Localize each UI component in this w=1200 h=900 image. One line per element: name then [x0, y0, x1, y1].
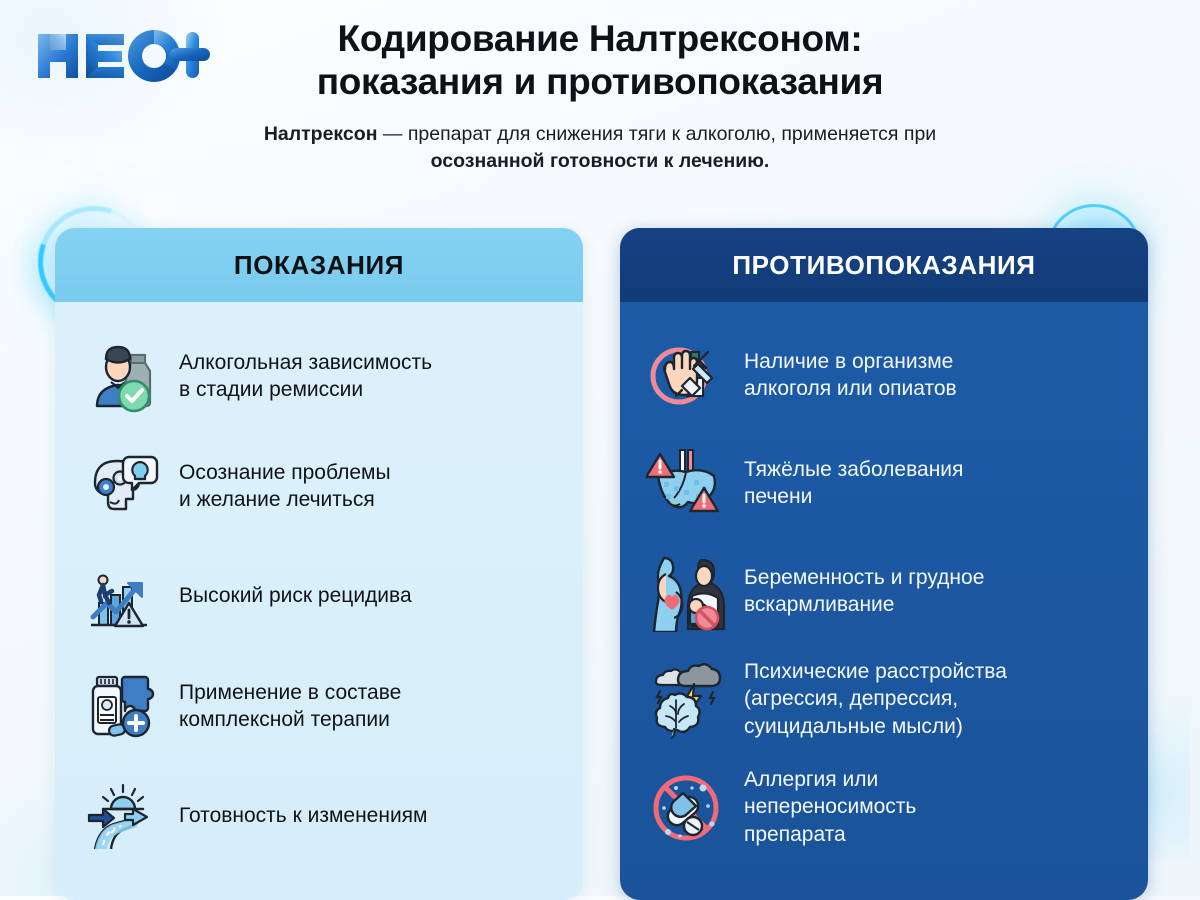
list-item-line: суицидальные мысли)	[744, 713, 1007, 740]
list-item[interactable]: Наличие в организме алкоголя или опиатов	[646, 324, 1118, 426]
list-item-text: Психические расстройства (агрессия, депр…	[744, 658, 1007, 740]
person-bottle-check-icon	[81, 335, 163, 417]
list-item-line: в стадии ремиссии	[179, 376, 432, 403]
no-pills-allergy-icon	[646, 766, 728, 848]
list-item-line: и желание лечиться	[179, 486, 391, 513]
list-item-line: Тяжёлые заболевания	[744, 456, 963, 483]
list-item-line: вскармливание	[744, 591, 984, 618]
list-item-text: Аллергия или непереносимость препарата	[744, 766, 916, 848]
subtitle-bold-drug-name: Налтрексон	[264, 123, 378, 145]
list-item-line: Беременность и грудное	[744, 564, 984, 591]
list-item-line: Психические расстройства	[744, 658, 1007, 685]
brain-storm-cloud-icon	[646, 658, 728, 740]
list-item[interactable]: Применение в составе комплексной терапии	[81, 654, 553, 758]
page-subtitle: Налтрексон — препарат для снижения тяги …	[250, 121, 950, 175]
card-contraindications-title: ПРОТИВОПОКАЗАНИЯ	[732, 250, 1035, 281]
list-item-text: Тяжёлые заболевания печени	[744, 456, 963, 511]
page-title: Кодирование Налтрексоном: показания и пр…	[220, 18, 980, 104]
list-item-line: комплексной терапии	[179, 706, 401, 733]
card-contraindications: ПРОТИВОПОКАЗАНИЯ	[620, 228, 1148, 900]
list-item-line: Осознание проблемы	[179, 459, 391, 486]
list-item-line: Готовность к изменениям	[179, 802, 427, 829]
list-item[interactable]: Высокий риск рецидива	[81, 544, 553, 648]
sunrise-road-arrow-icon	[81, 775, 163, 857]
card-contraindications-body: Наличие в организме алкоголя или опиатов	[620, 302, 1148, 900]
card-indications-title: ПОКАЗАНИЯ	[234, 250, 404, 281]
list-item-text: Наличие в организме алкоголя или опиатов	[744, 348, 957, 403]
list-item-line: алкоголя или опиатов	[744, 375, 957, 402]
list-item-line: Наличие в организме	[744, 348, 957, 375]
list-item[interactable]: Беременность и грудное вскармливание	[646, 540, 1118, 642]
list-item-line: Высокий риск рецидива	[179, 582, 412, 609]
subtitle-middle-text: — препарат для снижения тяги к алкоголю,…	[377, 123, 936, 145]
title-block: Кодирование Налтрексоном: показания и пр…	[220, 18, 980, 175]
list-item-line: препарата	[744, 821, 916, 848]
list-item-text: Алкогольная зависимость в стадии ремисси…	[179, 349, 432, 404]
page-header: Кодирование Налтрексоном: показания и пр…	[0, 0, 1200, 175]
list-item-text: Осознание проблемы и желание лечиться	[179, 459, 391, 514]
list-item[interactable]: Тяжёлые заболевания печени	[646, 432, 1118, 534]
pregnancy-breastfeeding-icon	[646, 550, 728, 632]
liver-warning-icon	[646, 442, 728, 524]
card-indications: ПОКАЗАНИЯ	[55, 228, 583, 900]
brand-logo[interactable]	[34, 26, 210, 86]
card-contraindications-header: ПРОТИВОПОКАЗАНИЯ	[620, 228, 1148, 302]
cards-row: ПОКАЗАНИЯ	[0, 228, 1200, 900]
list-item-line: Алкогольная зависимость	[179, 349, 432, 376]
list-item-text: Беременность и грудное вскармливание	[744, 564, 984, 619]
list-item-text: Высокий риск рецидива	[179, 582, 412, 609]
list-item[interactable]: Осознание проблемы и желание лечиться	[81, 434, 553, 538]
list-item[interactable]: Алкогольная зависимость в стадии ремисси…	[81, 324, 553, 428]
pill-bottle-puzzle-plus-icon	[81, 665, 163, 747]
list-item-line: непереносимость	[744, 793, 916, 820]
card-indications-header: ПОКАЗАНИЯ	[55, 228, 583, 302]
list-item-line: печени	[744, 483, 963, 510]
list-item[interactable]: Готовность к изменениям	[81, 764, 553, 868]
list-item-line: Аллергия или	[744, 766, 916, 793]
person-rising-chart-warning-icon	[81, 555, 163, 637]
list-item-line: Применение в составе	[179, 679, 401, 706]
stop-hand-bottle-syringe-icon	[646, 334, 728, 416]
list-item[interactable]: Аллергия или непереносимость препарата	[646, 756, 1118, 858]
list-item[interactable]: Психические расстройства (агрессия, депр…	[646, 648, 1118, 750]
list-item-text: Готовность к изменениям	[179, 802, 427, 829]
card-indications-body: Алкогольная зависимость в стадии ремисси…	[55, 302, 583, 900]
list-item-line: (агрессия, депрессия,	[744, 685, 1007, 712]
list-item-text: Применение в составе комплексной терапии	[179, 679, 401, 734]
head-gears-lightbulb-icon	[81, 445, 163, 527]
subtitle-bold-readiness: осознанной готовности к лечению.	[431, 150, 770, 172]
